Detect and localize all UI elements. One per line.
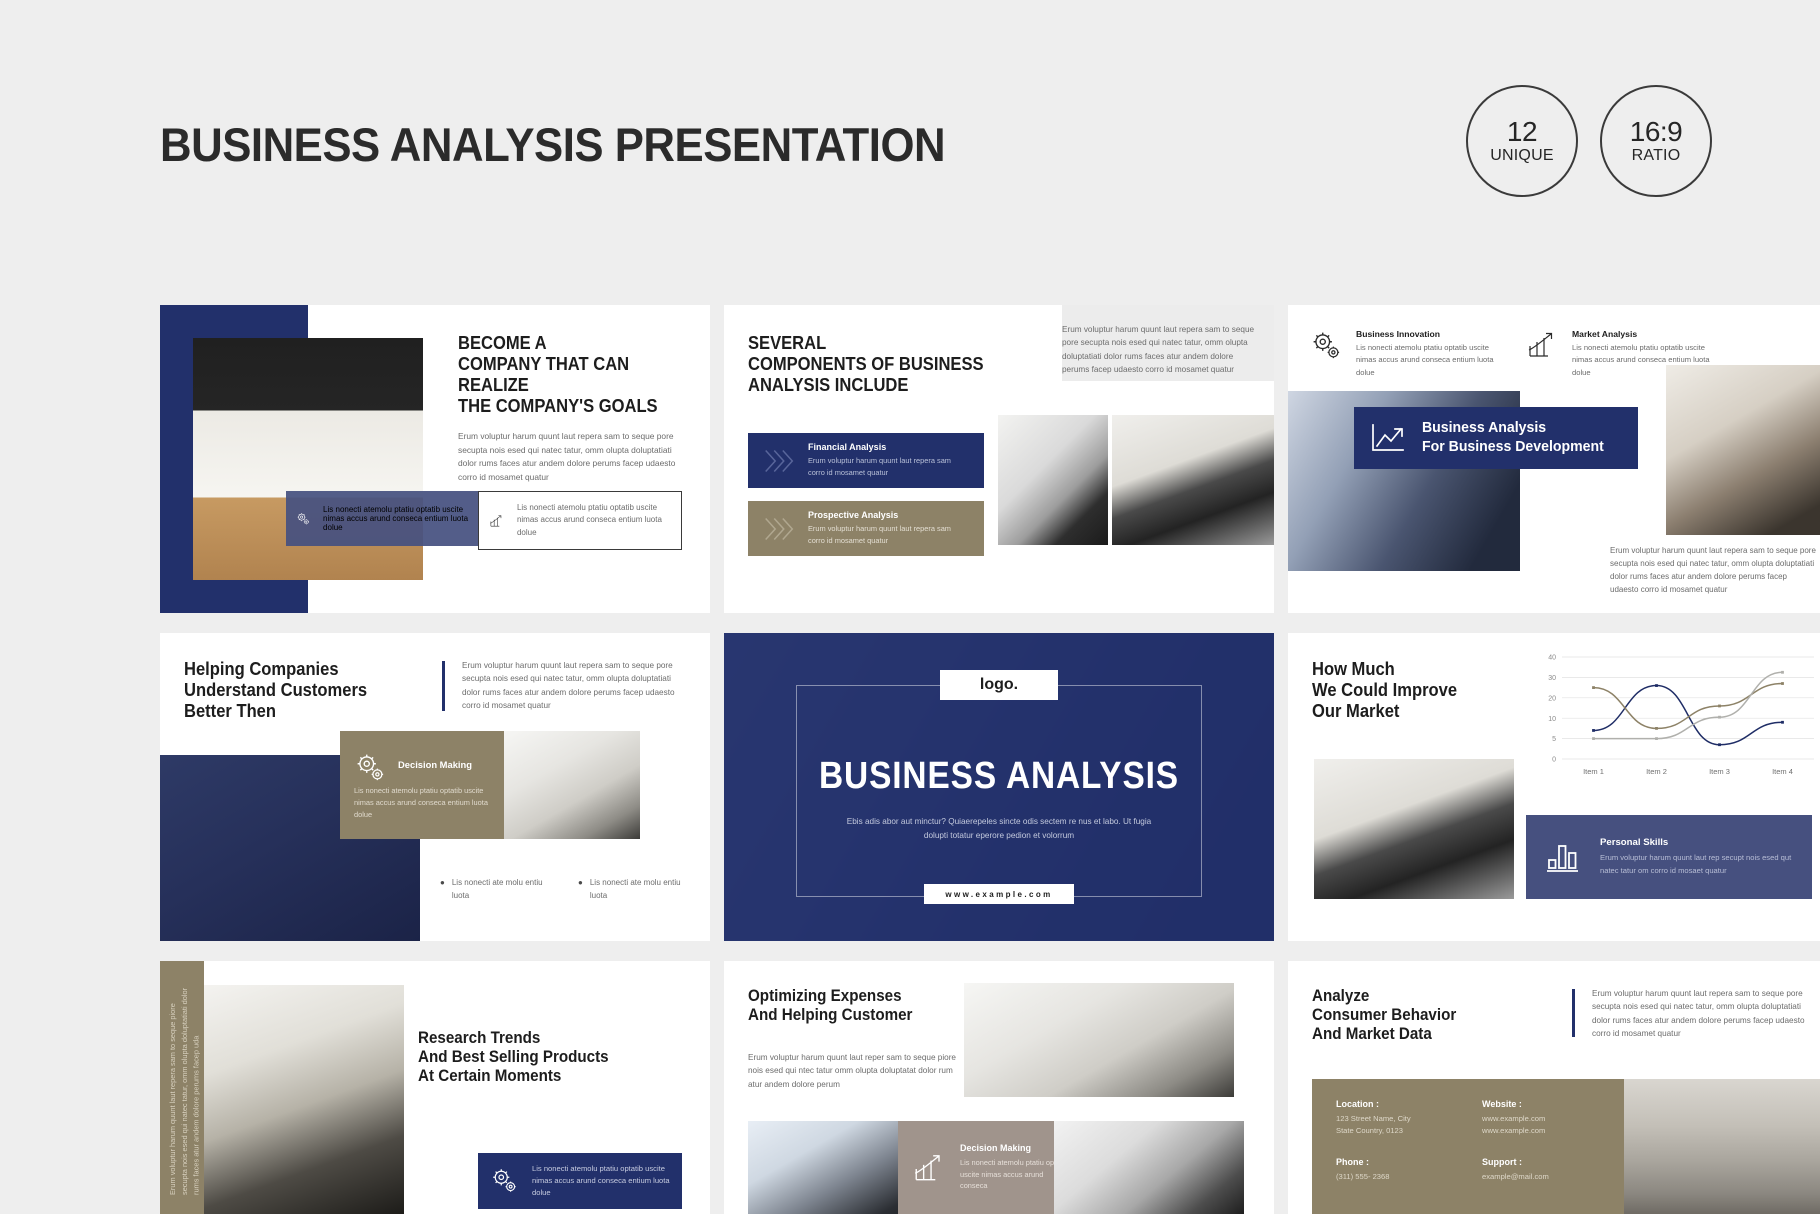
slide8-body: Erum voluptur harum quunt laut reper sam… — [748, 1051, 960, 1091]
slide9-body: Erum voluptur harum quunt laut repera sa… — [1592, 987, 1806, 1040]
note-growth-text: Lis nonecti atemolu ptatiu optatib uscit… — [517, 502, 671, 540]
url-text: www.example.com — [945, 890, 1052, 899]
gears-icon — [1310, 329, 1344, 363]
card-title: Prospective Analysis — [808, 510, 966, 520]
banner-line-2: For Business Development — [1422, 438, 1604, 457]
slide4-body: Erum voluptur harum quunt laut repera sa… — [462, 659, 678, 712]
heading-line-1: Helping Companies — [184, 659, 396, 680]
heading-line-2: COMPANY THAT CAN REALIZE — [458, 354, 688, 396]
note-research[interactable]: Lis nonecti atemolu ptatiu optatib uscit… — [478, 1153, 682, 1209]
heading-line-1: Analyze — [1312, 987, 1533, 1006]
slide-analyze-consumer-behavior[interactable]: Analyze Consumer Behavior And Market Dat… — [1288, 961, 1820, 1214]
contact-line-1: www.example.com — [1482, 1113, 1602, 1125]
card-title: Financial Analysis — [808, 442, 966, 452]
panel-title: Personal Skills — [1600, 837, 1796, 848]
heading-line-2: COMPONENTS OF BUSINESS — [748, 354, 1015, 375]
bar-growth-icon — [1526, 329, 1560, 361]
photo-laptop-charts — [1314, 759, 1514, 899]
panel-personal-skills[interactable]: Personal Skills Erum voluptur harum quun… — [1526, 815, 1812, 899]
accent-bar — [1572, 989, 1575, 1037]
svg-text:10: 10 — [1548, 716, 1556, 723]
slide1-heading: BECOME A COMPANY THAT CAN REALIZE THE CO… — [458, 333, 688, 417]
slide6-heading: How Much We Could Improve Our Market — [1312, 659, 1496, 722]
bullet-dot-icon: ● — [578, 877, 583, 941]
logo-box[interactable]: logo. — [940, 670, 1058, 700]
heading-line-3: ANALYSIS INCLUDE — [748, 375, 1015, 396]
contact-location: Location : 123 Street Name, City State C… — [1336, 1099, 1456, 1138]
heading-line-2: And Best Selling Products — [418, 1048, 648, 1067]
slide5-title: BUSINESS ANALYSIS — [757, 755, 1241, 798]
photo-glasses-notebook — [998, 415, 1108, 545]
slide-how-much-improve[interactable]: How Much We Could Improve Our Market 051… — [1288, 633, 1820, 941]
contact-line-1: 123 Street Name, City — [1336, 1113, 1456, 1125]
slide5-subtitle: Ebis adis abor aut minctur? Quiaerepeles… — [846, 815, 1152, 843]
svg-text:40: 40 — [1548, 655, 1556, 662]
bar-chart-icon — [1544, 838, 1584, 876]
accent-bar — [442, 661, 445, 711]
heading-line-3: And Market Data — [1312, 1025, 1533, 1044]
slide8-heading: Optimizing Expenses And Helping Customer — [748, 987, 987, 1025]
gears-icon — [354, 751, 388, 785]
heading-line-2: Understand Customers — [184, 680, 396, 701]
slide-business-development[interactable]: Business Innovation Lis nonecti atemolu … — [1288, 305, 1820, 613]
list-item: ● Lis nonecti ate molu entiu luota — [578, 877, 694, 941]
photo-hands-documents — [1666, 365, 1820, 535]
feature-text: Lis nonecti atemolu ptatiu optatib uscit… — [1356, 342, 1504, 379]
slide-helping-companies[interactable]: Helping Companies Understand Customers B… — [160, 633, 710, 941]
slide2-body: Erum voluptur harum quunt laut repera sa… — [1062, 323, 1260, 376]
heading-line-1: Research Trends — [418, 1029, 648, 1048]
heading-line-1: How Much — [1312, 659, 1496, 680]
svg-text:Item 1: Item 1 — [1583, 767, 1604, 776]
bullet-text: Lis nonecti ate molu entiu luota — [590, 877, 694, 941]
svg-text:0: 0 — [1552, 757, 1556, 764]
heading-line-3: THE COMPANY'S GOALS — [458, 396, 688, 417]
banner-line-1: Business Analysis — [1422, 419, 1604, 438]
note-gears-navy[interactable]: Lis nonecti atemolu ptatiu optatib uscit… — [286, 491, 488, 546]
contact-website: Website : www.example.com www.example.co… — [1482, 1099, 1602, 1138]
feature-business-innovation[interactable]: Business Innovation Lis nonecti atemolu … — [1310, 329, 1510, 379]
contact-label: Website : — [1482, 1099, 1602, 1109]
logo-text: logo. — [980, 676, 1018, 694]
feature-title: Business Innovation — [1356, 329, 1504, 339]
photo-analysis-chart — [504, 731, 640, 839]
panel-text: Lis nonecti atemolu ptatiu optatib uscit… — [354, 785, 494, 821]
bar-growth-icon — [489, 507, 505, 535]
panel-decision-making[interactable]: Decision Making Lis nonecti atemolu ptat… — [340, 731, 504, 839]
card-text: Erum voluptur harum quunt laut repera sa… — [808, 523, 966, 547]
photo-keyboard-hands — [1054, 1121, 1244, 1214]
heading-line-1: SEVERAL — [748, 333, 1015, 354]
slide2-heading: SEVERAL COMPONENTS OF BUSINESS ANALYSIS … — [748, 333, 1015, 396]
banner-business-analysis[interactable]: Business Analysis For Business Developme… — [1354, 407, 1638, 469]
heading-line-2: We Could Improve — [1312, 680, 1496, 701]
heading-line-2: Consumer Behavior — [1312, 1006, 1533, 1025]
slide-several-components[interactable]: SEVERAL COMPONENTS OF BUSINESS ANALYSIS … — [724, 305, 1274, 613]
contact-line-1: (311) 555- 2368 — [1336, 1171, 1456, 1183]
url-box[interactable]: www.example.com — [924, 884, 1074, 904]
list-item: ● Lis nonecti ate molu entiu luota — [440, 877, 556, 941]
heading-line-3: At Certain Moments — [418, 1067, 648, 1086]
card-text: Erum voluptur harum quunt laut repera sa… — [808, 455, 966, 479]
bullet-group: ● Lis nonecti ate molu entiu luota ● Lis… — [422, 859, 710, 941]
contact-line-2: State Country, 0123 — [1336, 1125, 1456, 1137]
feature-title: Market Analysis — [1572, 329, 1720, 339]
note-growth-outline[interactable]: Lis nonecti atemolu ptatiu optatib uscit… — [478, 491, 682, 550]
contact-phone: Phone : (311) 555- 2368 — [1336, 1157, 1456, 1183]
sidebar-vertical-text: Erum voluptur harum quunt laut repera sa… — [167, 985, 197, 1195]
contact-line-2: www.example.com — [1482, 1125, 1602, 1137]
bar-growth-icon — [912, 1152, 948, 1184]
svg-text:30: 30 — [1548, 675, 1556, 682]
line-chart: 0510203040Item 1Item 2Item 3Item 4 — [1524, 647, 1820, 781]
card-prospective-analysis[interactable]: Prospective Analysis Erum voluptur harum… — [748, 501, 984, 556]
slide-grid: BECOME A COMPANY THAT CAN REALIZE THE CO… — [0, 0, 1820, 1214]
slide1-body: Erum voluptur harum quunt laut repera sa… — [458, 430, 676, 484]
chevrons-right-icon — [760, 442, 798, 480]
slide-research-trends[interactable]: Erum voluptur harum quunt laut repera sa… — [160, 961, 710, 1214]
slide-optimizing-expenses[interactable]: Optimizing Expenses And Helping Customer… — [724, 961, 1274, 1214]
slide7-heading: Research Trends And Best Selling Product… — [418, 1029, 648, 1086]
bullet-text: Lis nonecti ate molu entiu luota — [452, 877, 556, 941]
slide-become-a-company[interactable]: BECOME A COMPANY THAT CAN REALIZE THE CO… — [160, 305, 710, 613]
contact-label: Phone : — [1336, 1157, 1456, 1167]
chevrons-right-icon — [760, 510, 798, 548]
contact-line-1: example@mail.com — [1482, 1171, 1612, 1183]
svg-text:5: 5 — [1552, 736, 1556, 743]
slide9-heading: Analyze Consumer Behavior And Market Dat… — [1312, 987, 1533, 1044]
slide4-heading: Helping Companies Understand Customers B… — [184, 659, 396, 722]
gears-icon — [490, 1166, 520, 1196]
heading-line-2: And Helping Customer — [748, 1006, 987, 1025]
photo-stock-chart — [964, 983, 1234, 1097]
gears-icon — [296, 504, 311, 534]
card-financial-analysis[interactable]: Financial Analysis Erum voluptur harum q… — [748, 433, 984, 488]
slide-title-business-analysis[interactable]: logo. BUSINESS ANALYSIS Ebis adis abor a… — [724, 633, 1274, 941]
panel-text: Erum voluptur harum quunt laut rep secup… — [1600, 852, 1796, 877]
svg-text:20: 20 — [1548, 695, 1556, 702]
svg-text:Item 4: Item 4 — [1772, 767, 1793, 776]
note-text: Lis nonecti atemolu ptatiu optatib uscit… — [532, 1163, 672, 1199]
line-growth-icon — [1368, 421, 1408, 455]
svg-text:Item 2: Item 2 — [1646, 767, 1667, 776]
khaki-sidebar: Erum voluptur harum quunt laut repera sa… — [160, 961, 204, 1214]
heading-line-3: Better Then — [184, 701, 396, 722]
photo-tablet-coffee — [204, 985, 404, 1214]
contact-label: Location : — [1336, 1099, 1456, 1109]
slide3-body: Erum voluptur harum quunt laut repera sa… — [1610, 545, 1816, 597]
bullet-dot-icon: ● — [440, 877, 445, 941]
heading-line-3: Our Market — [1312, 701, 1496, 722]
heading-line-1: Optimizing Expenses — [748, 987, 987, 1006]
contact-support: Support : example@mail.com — [1482, 1157, 1612, 1183]
svg-text:Item 3: Item 3 — [1709, 767, 1730, 776]
panel-title: Decision Making — [398, 759, 472, 770]
contact-panel: Location : 123 Street Name, City State C… — [1312, 1079, 1624, 1214]
contact-label: Support : — [1482, 1157, 1612, 1167]
photo-typing-laptop — [1112, 415, 1274, 545]
heading-line-1: BECOME A — [458, 333, 688, 354]
note-gears-text: Lis nonecti atemolu ptatiu optatib uscit… — [323, 505, 478, 532]
line-chart-svg: 0510203040Item 1Item 2Item 3Item 4 — [1524, 647, 1820, 781]
